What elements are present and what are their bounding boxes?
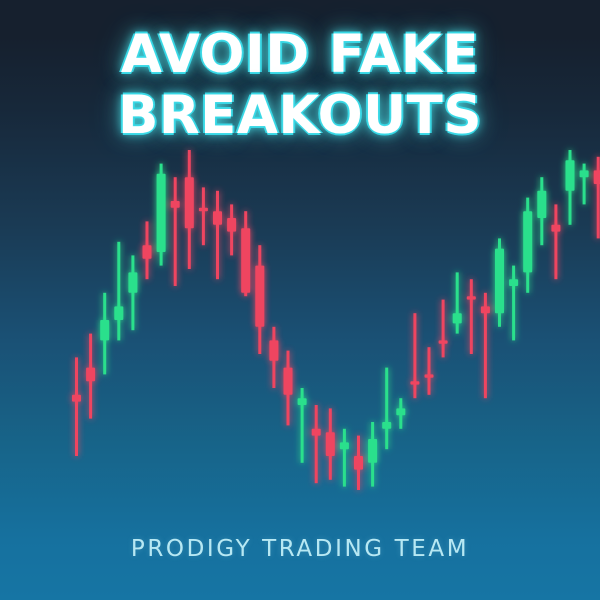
candle-body-bullish bbox=[340, 442, 349, 449]
candle-body-bullish bbox=[523, 211, 532, 272]
candle-wick bbox=[385, 368, 388, 450]
candle-body-bullish bbox=[100, 320, 109, 340]
candle-body-bullish bbox=[580, 170, 589, 177]
candle-body-bullish bbox=[128, 272, 137, 292]
candle-body-bearish bbox=[326, 432, 335, 456]
candle-wick bbox=[117, 242, 120, 341]
candle-body-bearish bbox=[594, 170, 600, 184]
candle-wick bbox=[202, 187, 205, 245]
candle-body-bearish bbox=[185, 177, 194, 228]
title-block: AVOID FAKE BREAKOUTS bbox=[0, 28, 600, 150]
candle-body-bullish bbox=[298, 398, 307, 405]
candle-body-bullish bbox=[537, 191, 546, 218]
candle-body-bearish bbox=[481, 306, 490, 313]
title-line-1: AVOID FAKE bbox=[0, 28, 600, 81]
candle-body-bearish bbox=[72, 395, 81, 402]
candle-body-bearish bbox=[199, 208, 208, 211]
candle-wick bbox=[75, 357, 78, 456]
candle-body-bearish bbox=[269, 340, 278, 360]
candle-body-bearish bbox=[241, 228, 250, 293]
candle-wick bbox=[554, 204, 557, 279]
title-line-2: BREAKOUTS bbox=[0, 89, 600, 142]
poster-canvas: AVOID FAKE BREAKOUTS PRODIGY TRADING TEA… bbox=[0, 0, 600, 600]
candle-wick bbox=[583, 164, 586, 205]
candle-wick bbox=[456, 272, 459, 333]
candle-body-bearish bbox=[551, 225, 560, 232]
candle-body-bearish bbox=[255, 266, 264, 327]
candle-body-bearish bbox=[227, 218, 236, 232]
candle-body-bearish bbox=[171, 201, 180, 208]
candle-body-bullish bbox=[382, 422, 391, 429]
footer-block: PRODIGY TRADING TEAM bbox=[0, 536, 600, 562]
candle-wick bbox=[216, 191, 219, 279]
candle-wick bbox=[512, 266, 515, 341]
candle-body-bearish bbox=[213, 211, 222, 225]
candle-wick bbox=[597, 157, 600, 239]
brand-name: PRODIGY TRADING TEAM bbox=[131, 536, 469, 562]
candle-wick bbox=[442, 300, 445, 358]
candle-body-bullish bbox=[566, 160, 575, 191]
candle-body-bearish bbox=[410, 381, 419, 384]
candle-wick bbox=[343, 429, 346, 487]
candle-wick bbox=[174, 177, 177, 286]
candle-body-bearish bbox=[425, 374, 434, 377]
candle-body-bearish bbox=[86, 368, 95, 382]
candle-body-bullish bbox=[368, 439, 377, 463]
candle-body-bearish bbox=[439, 340, 448, 343]
candle-wick bbox=[315, 405, 318, 483]
candle-body-bullish bbox=[157, 174, 166, 252]
candle-wick bbox=[428, 347, 431, 395]
candle-wick bbox=[470, 279, 473, 354]
candle-body-bearish bbox=[312, 429, 321, 436]
candle-body-bearish bbox=[143, 245, 152, 259]
candle-body-bullish bbox=[396, 408, 405, 415]
candle-body-bullish bbox=[495, 249, 504, 314]
candle-body-bullish bbox=[453, 313, 462, 323]
candle-body-bullish bbox=[509, 279, 518, 286]
candle-wick bbox=[413, 313, 416, 398]
candle-body-bearish bbox=[467, 296, 476, 299]
candle-body-bearish bbox=[284, 368, 293, 395]
candle-body-bullish bbox=[114, 306, 123, 320]
candle-body-bearish bbox=[354, 456, 363, 470]
